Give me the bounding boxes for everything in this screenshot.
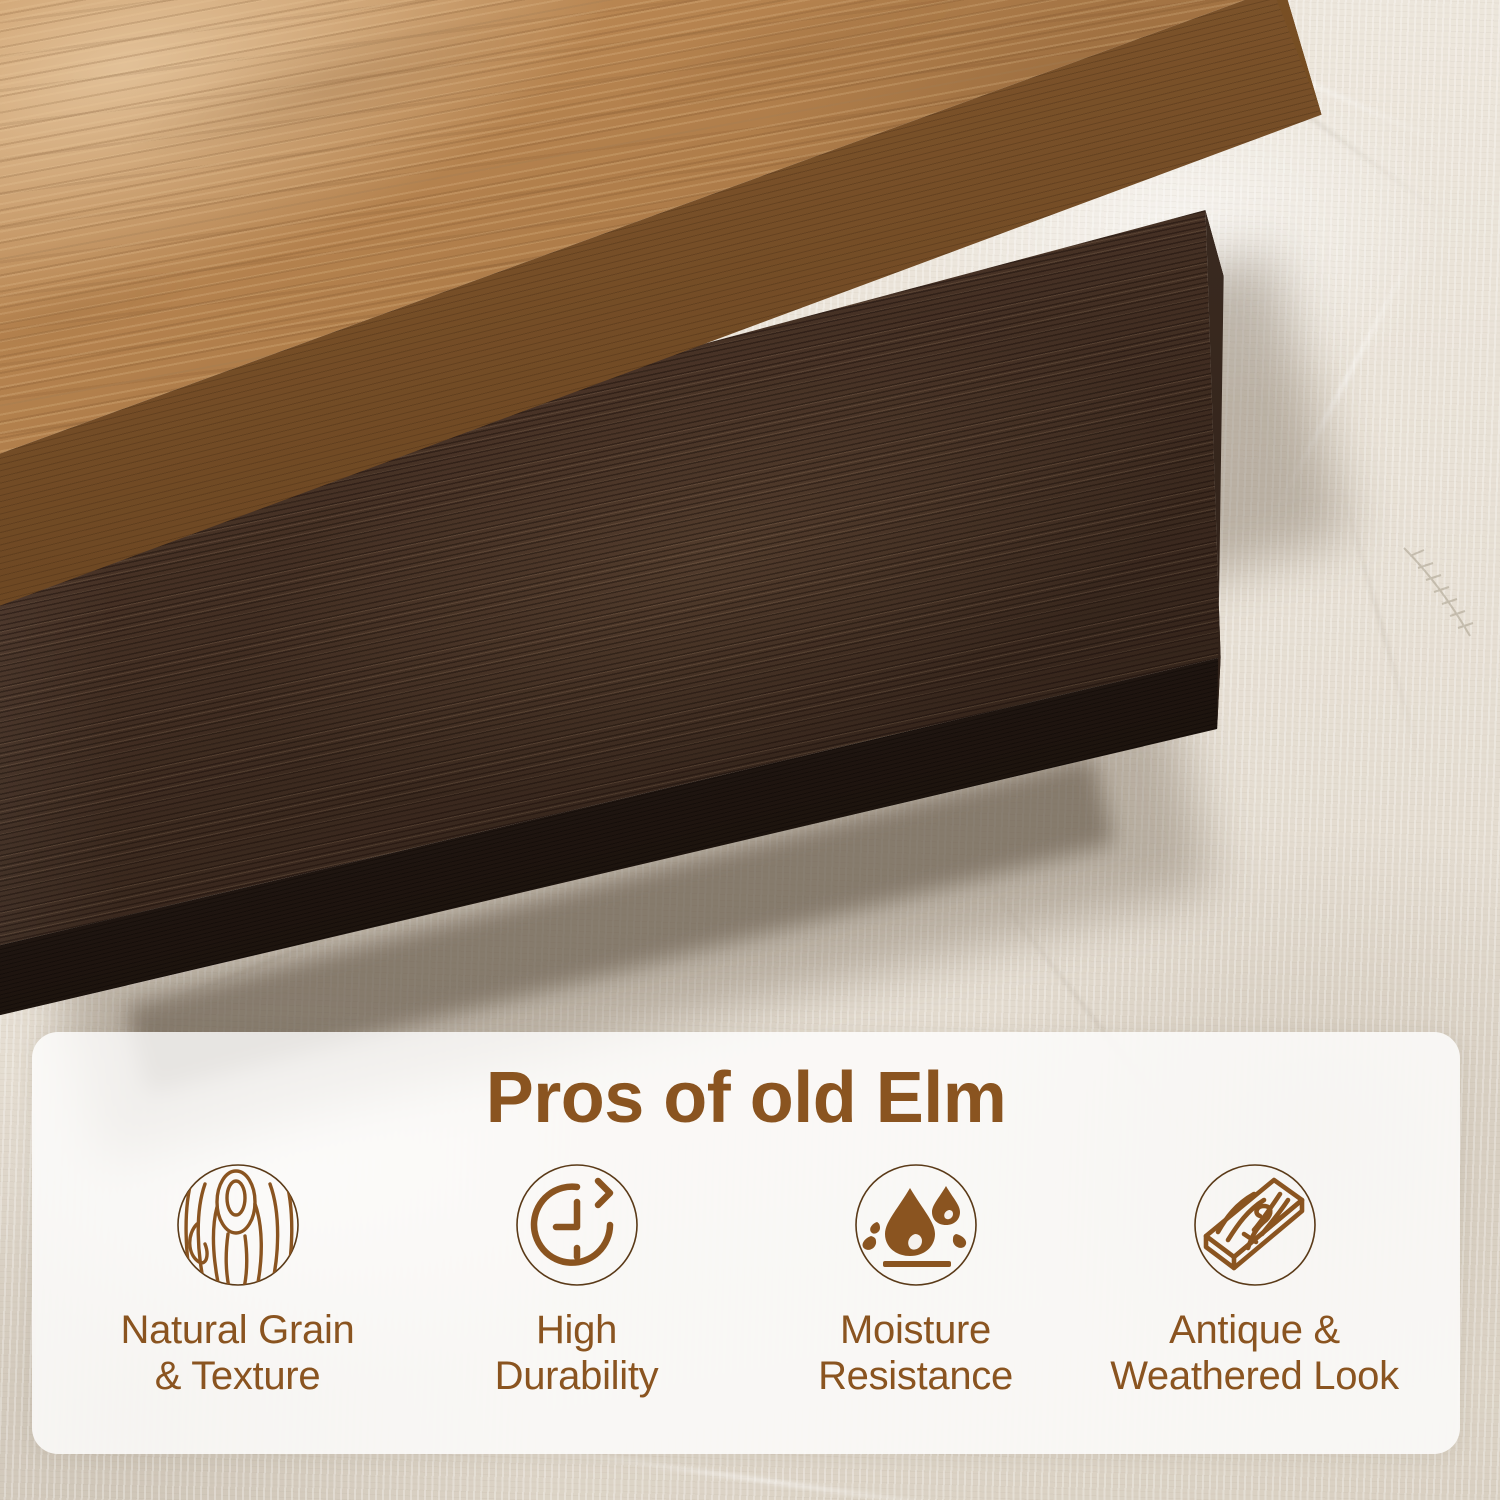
feature-natural-grain: Natural Grain & Texture xyxy=(68,1162,407,1398)
wood-plank-icon xyxy=(1192,1162,1318,1288)
product-feature-image: Pros of old Elm xyxy=(0,0,1500,1500)
features-row: Natural Grain & Texture High Durability xyxy=(32,1136,1460,1398)
water-droplet-icon xyxy=(853,1162,979,1288)
wood-grain-icon xyxy=(175,1162,301,1288)
feature-high-durability: High Durability xyxy=(407,1162,746,1398)
feature-antique-look: Antique & Weathered Look xyxy=(1085,1162,1424,1398)
feature-moisture-resistance: Moisture Resistance xyxy=(746,1162,1085,1398)
feature-label: Natural Grain & Texture xyxy=(121,1308,355,1398)
feature-label: Antique & Weathered Look xyxy=(1110,1308,1399,1398)
panel-title: Pros of old Elm xyxy=(32,1060,1460,1136)
features-panel: Pros of old Elm xyxy=(32,1032,1460,1454)
feature-label: High Durability xyxy=(495,1308,659,1398)
dried-sprig xyxy=(1396,540,1500,660)
feature-label: Moisture Resistance xyxy=(818,1308,1013,1398)
clock-arrow-icon xyxy=(514,1162,640,1288)
